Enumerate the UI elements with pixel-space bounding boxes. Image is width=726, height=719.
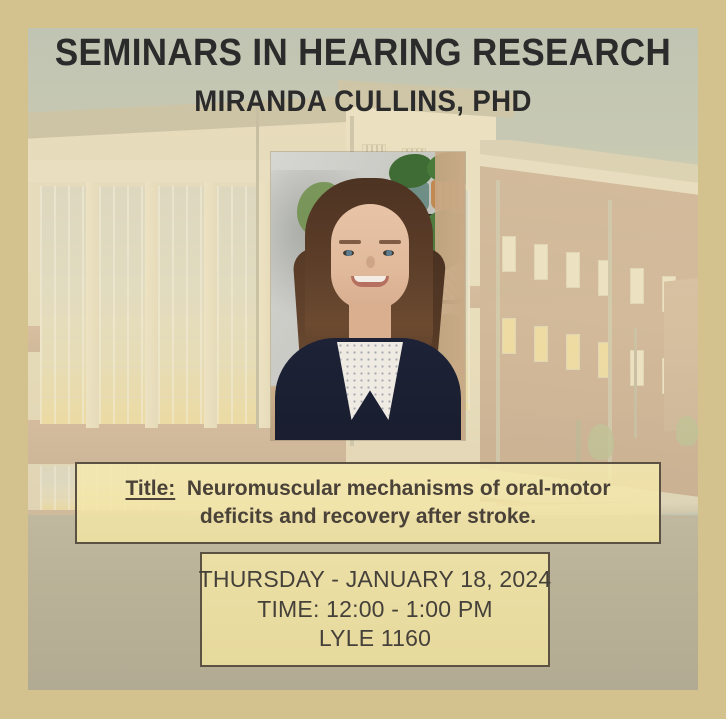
event-details-box: THURSDAY - JANUARY 18, 2024 TIME: 12:00 … [200,552,550,667]
shrub [676,416,698,446]
talk-title-box: Title: Neuromuscular mechanisms of oral-… [75,462,661,544]
talk-title-line1: Neuromuscular mechanisms of oral-motor [187,477,611,500]
title-label: Title: [125,477,175,500]
lamp-post [634,328,637,438]
seminar-poster: SEMINARS IN HEARING RESEARCH MIRANDA CUL… [0,0,726,719]
shrub [588,424,614,460]
event-date: THURSDAY - JANUARY 18, 2024 [199,565,552,594]
speaker-portrait [271,152,465,440]
event-time: TIME: 12:00 - 1:00 PM [257,595,493,624]
headline-block: SEMINARS IN HEARING RESEARCH MIRANDA CUL… [0,34,726,117]
talk-title-line2: deficits and recovery after stroke. [200,505,536,528]
speaker-name: MIRANDA CULLINS, PHD [29,86,697,118]
page-title: SEMINARS IN HEARING RESEARCH [29,34,697,74]
event-room: LYLE 1160 [319,624,431,653]
lamp-post [256,100,259,430]
neck [349,302,391,342]
building-far-background [664,274,698,431]
